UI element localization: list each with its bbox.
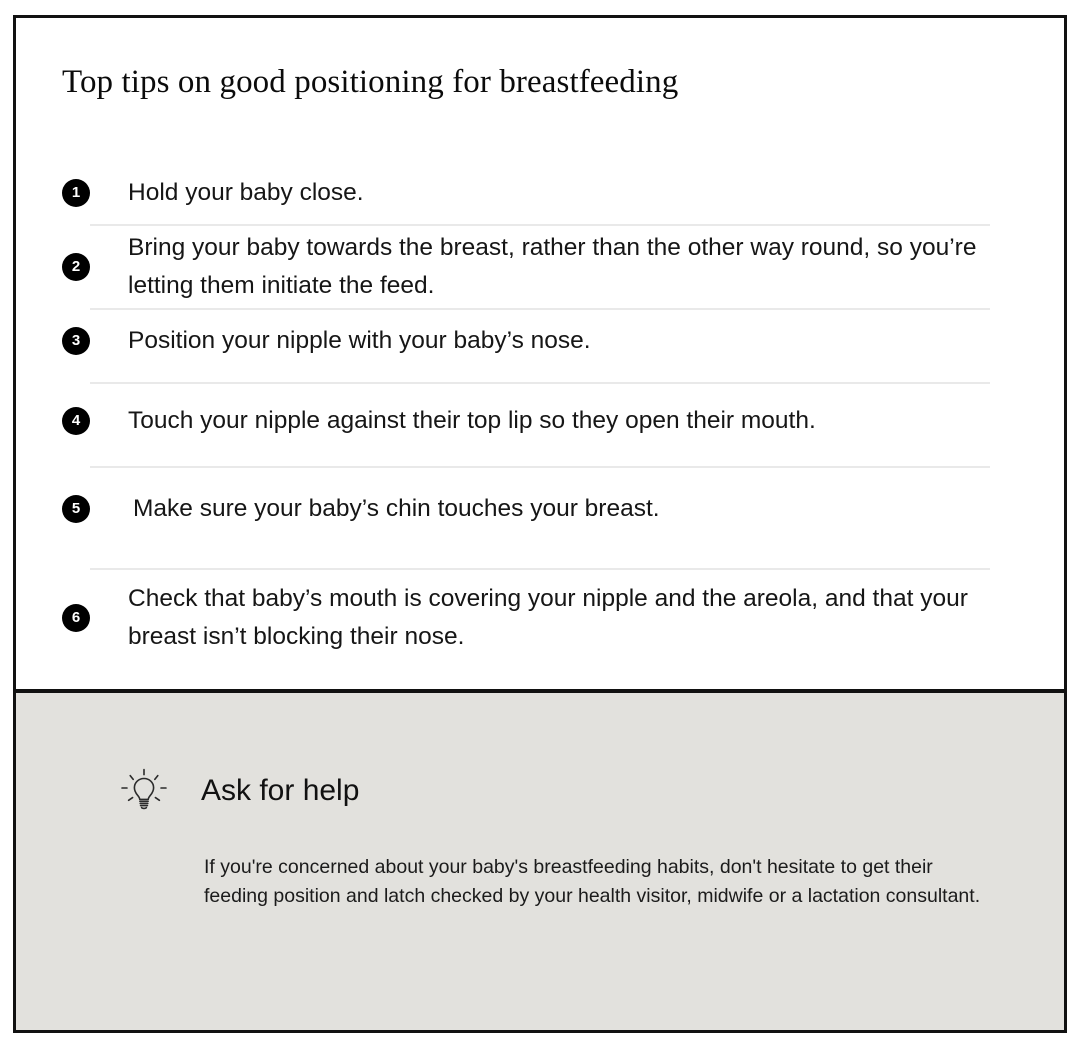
ask-for-help-title: Ask for help	[201, 773, 359, 811]
list-item: 3 Position your nipple with your baby’s …	[16, 310, 1064, 372]
tip-text: Hold your baby close.	[128, 174, 1020, 212]
tip-text: Make sure your baby’s chin touches your …	[133, 490, 1020, 528]
tips-list: 1 Hold your baby close. 2 Bring your bab…	[16, 164, 1064, 666]
list-item: 2 Bring your baby towards the breast, ra…	[16, 226, 1064, 308]
tip-number-badge: 4	[62, 407, 90, 435]
list-item: 4 Touch your nipple against their top li…	[16, 384, 1064, 458]
ask-for-help-panel: Ask for help If you're concerned about y…	[16, 689, 1064, 1030]
ask-for-help-header: Ask for help	[16, 693, 1064, 817]
tip-text: Check that baby’s mouth is covering your…	[128, 580, 1020, 656]
ask-for-help-body: If you're concerned about your baby's br…	[16, 817, 1064, 911]
tip-number-badge: 6	[62, 604, 90, 632]
tip-number-badge: 3	[62, 327, 90, 355]
page-root: Top tips on good positioning for breastf…	[0, 0, 1080, 1046]
list-item: 5 Make sure your baby’s chin touches you…	[16, 468, 1064, 550]
tips-section: Top tips on good positioning for breastf…	[16, 18, 1064, 689]
list-item: 1 Hold your baby close.	[16, 164, 1064, 222]
tip-number-badge: 2	[62, 253, 90, 281]
tip-number-badge: 5	[62, 495, 90, 523]
lightbulb-icon	[119, 767, 169, 817]
info-card: Top tips on good positioning for breastf…	[13, 15, 1067, 1033]
tip-number-badge: 1	[62, 179, 90, 207]
list-item: 6 Check that baby’s mouth is covering yo…	[16, 570, 1064, 666]
page-title: Top tips on good positioning for breastf…	[16, 18, 1064, 102]
tip-text: Position your nipple with your baby’s no…	[128, 322, 1020, 360]
tip-text: Bring your baby towards the breast, rath…	[128, 229, 1020, 305]
tip-text: Touch your nipple against their top lip …	[128, 402, 1020, 440]
